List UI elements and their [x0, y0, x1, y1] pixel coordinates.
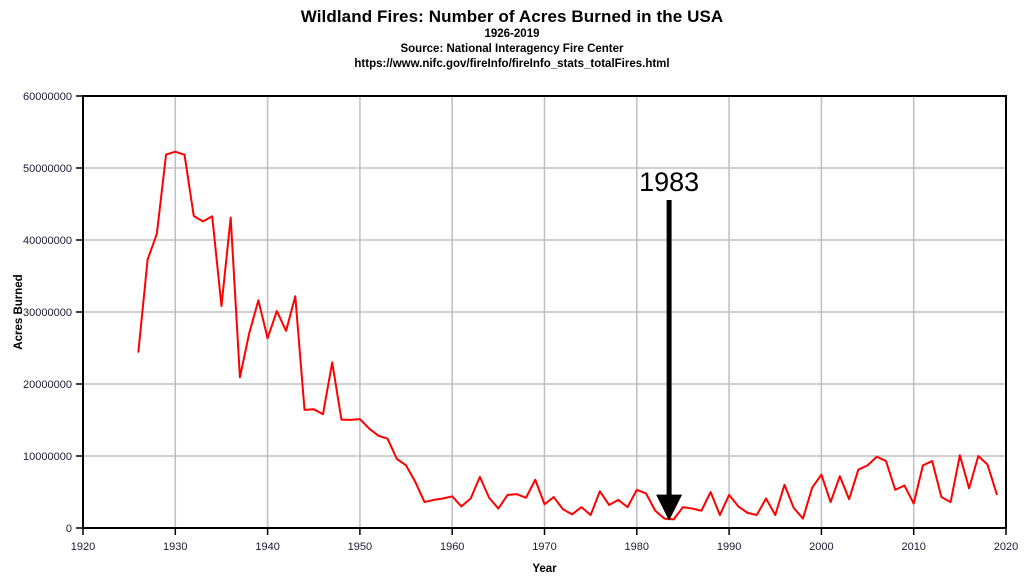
y-axis-tick-label: 40000000	[23, 235, 72, 247]
x-axis-tick-label: 1920	[71, 541, 95, 553]
chart-subtitle-range: 1926-2019	[0, 27, 1024, 42]
x-axis-tick-label: 1980	[625, 541, 649, 553]
chart-title: Wildland Fires: Number of Acres Burned i…	[0, 6, 1024, 27]
x-axis-tick-label: 1940	[255, 541, 279, 553]
y-axis-tick-label: 60000000	[23, 91, 72, 103]
x-axis-ticks-group: 1920193019401950196019701980199020002010…	[71, 528, 1018, 553]
annotation-label: 1983	[639, 167, 699, 197]
x-axis-tick-label: 2000	[809, 541, 833, 553]
chart-titles: Wildland Fires: Number of Acres Burned i…	[0, 6, 1024, 72]
x-axis-title: Year	[532, 563, 557, 575]
x-axis-tick-label: 2020	[994, 541, 1018, 553]
x-axis-tick-label: 1970	[532, 541, 556, 553]
x-axis-tick-label: 1990	[717, 541, 741, 553]
y-axis-tick-label: 0	[66, 523, 72, 535]
x-axis-tick-label: 1960	[440, 541, 464, 553]
annotation-1983: 1983	[639, 167, 699, 521]
chart-subtitle-source: Source: National Interagency Fire Center	[0, 42, 1024, 57]
gridlines-group	[83, 96, 1006, 528]
y-axis-ticks-group: 0100000002000000030000000400000005000000…	[23, 91, 83, 535]
chart-figure: Wildland Fires: Number of Acres Burned i…	[0, 0, 1024, 576]
annotation-arrow-head	[656, 495, 682, 521]
y-axis-title: Acres Burned	[13, 274, 25, 349]
chart-subtitle-url: https://www.nifc.gov/fireInfo/fireInfo_s…	[0, 57, 1024, 72]
y-axis-tick-label: 20000000	[23, 379, 72, 391]
x-axis-tick-label: 1930	[163, 541, 187, 553]
x-axis-tick-label: 2010	[901, 541, 925, 553]
y-axis-tick-label: 50000000	[23, 163, 72, 175]
y-axis-tick-label: 30000000	[23, 307, 72, 319]
x-axis-tick-label: 1950	[348, 541, 372, 553]
chart-plot: 0100000002000000030000000400000005000000…	[0, 0, 1024, 576]
y-axis-tick-label: 10000000	[23, 451, 72, 463]
